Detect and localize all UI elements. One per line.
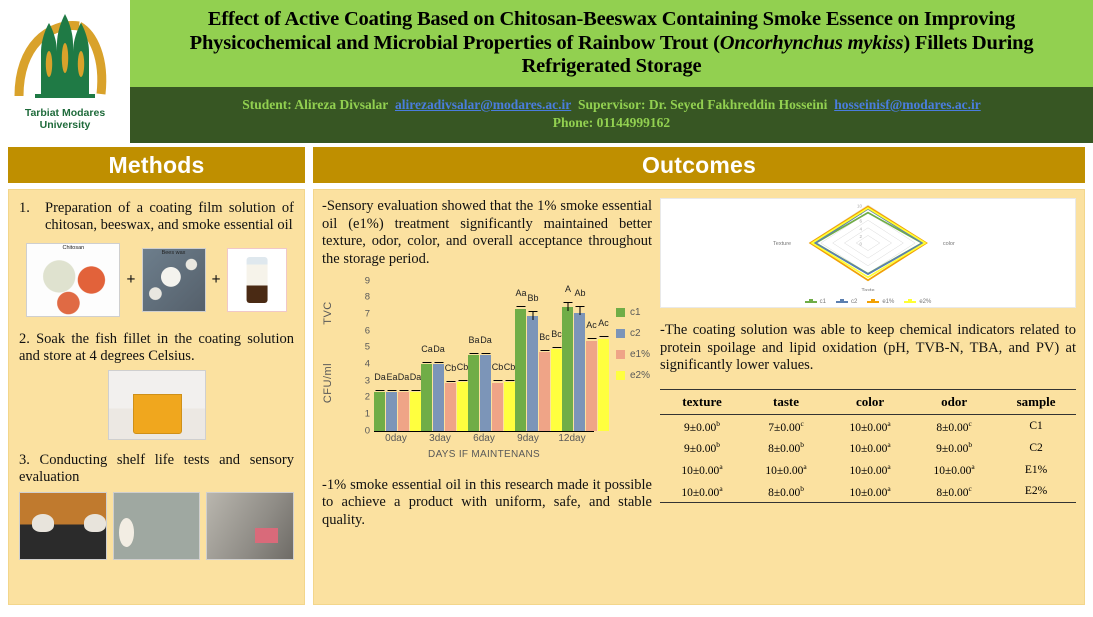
y-tick-6: 6 (365, 325, 370, 336)
radar-gridline (821, 213, 915, 274)
methods-step-1-number: 1. (19, 200, 39, 235)
supervisor-email-link[interactable]: hosseinisf@modares.ac.ir (834, 97, 981, 112)
radar-tick-2: 2 (859, 234, 862, 239)
radar-gridline (809, 205, 927, 281)
chart-y-axis-ticks: 0123456789 (356, 281, 370, 431)
superscript: a (887, 484, 890, 493)
bar-12day-c1: A (562, 307, 573, 431)
superscript: b (800, 484, 804, 493)
radar-legend-swatch (836, 301, 848, 303)
outcomes-panel: -Sensory evaluation showed that the 1% s… (313, 189, 1085, 605)
superscript: b (716, 419, 720, 428)
error-bar (587, 338, 596, 339)
table-cell-color: 10±0.00a (828, 415, 912, 437)
section-title-methods: Methods (109, 152, 205, 179)
error-bar (446, 381, 455, 382)
significance-label: Aa (516, 288, 527, 298)
poster-header: Tarbiat Modares University Effect of Act… (0, 0, 1093, 143)
error-bar (399, 390, 408, 391)
superscript: b (716, 440, 720, 449)
significance-label: Bb (528, 293, 539, 303)
bar-12day-e2%: Ac (598, 339, 609, 431)
x-label-9day: 9day (506, 433, 550, 444)
radar-series-e1% (810, 207, 926, 281)
radar-series-c2 (815, 209, 923, 274)
methods-step-1-text: Preparation of a coating film solution o… (45, 200, 294, 235)
significance-label: Da (480, 335, 492, 345)
significance-label: Ac (586, 320, 597, 330)
chart-legend: c1c2e1%e2% (616, 307, 650, 381)
radar-series-e2% (812, 208, 925, 277)
radar-axis-label-Taste: Taste (861, 288, 874, 291)
y-tick-3: 3 (365, 375, 370, 386)
y-tick-2: 2 (365, 392, 370, 403)
bar-0day-e1%: Da (398, 392, 409, 430)
table-cell-sample: C2 (996, 437, 1076, 459)
error-bar (563, 302, 572, 303)
radar-legend-item-e2%: e2% (904, 299, 931, 305)
legend-swatch (616, 308, 625, 317)
table-header-texture: texture (660, 390, 744, 415)
error-bar (387, 390, 396, 391)
legend-item-c1: c1 (616, 307, 650, 318)
error-bar (458, 380, 467, 381)
outcomes-paragraph-3: -The coating solution was able to keep c… (660, 322, 1076, 375)
table-cell-texture: 10±0.00a (660, 459, 744, 481)
legend-label: e2% (630, 370, 650, 381)
bar-group-9day: AaBbBcBc (515, 281, 562, 431)
university-logo-icon (5, 8, 125, 108)
significance-label: Ba (469, 335, 480, 345)
authors-line: Student: Alireza Divsalar alirezadivsala… (242, 96, 981, 114)
table-row: 10±0.00a8±0.00b10±0.00a8±0.00cE2% (660, 481, 1076, 503)
chart-ylabel-tvc: TVC (322, 301, 334, 325)
error-bar (552, 347, 561, 348)
bar-3day-c1: Ca (421, 364, 432, 431)
x-label-3day: 3day (418, 433, 462, 444)
significance-label: Cb (504, 362, 516, 372)
outcomes-paragraph-2: -1% smoke essential oil in this research… (322, 477, 652, 530)
radar-legend-item-e1%: e1% (867, 299, 894, 305)
table-cell-texture: 9±0.00b (660, 437, 744, 459)
chart-x-axis-title: DAYS IF MAINTENANS (374, 449, 594, 460)
superscript: a (719, 484, 722, 493)
logo-line-2: University (40, 119, 91, 131)
legend-label: e1% (630, 349, 650, 360)
y-tick-7: 7 (365, 309, 370, 320)
superscript: c (969, 484, 972, 493)
superscript: a (887, 462, 890, 471)
bar-9day-c1: Aa (515, 309, 526, 431)
bar-12day-e1%: Ac (586, 341, 597, 431)
significance-label: Ea (387, 372, 398, 382)
significance-label: Cb (445, 363, 457, 373)
beeswax-spoon-photo: Bees wax (142, 248, 206, 312)
beeswax-photo-caption: Bees wax (143, 250, 205, 256)
y-tick-4: 4 (365, 359, 370, 370)
radar-legend-item-c2: c2 (836, 299, 857, 305)
error-bar (540, 350, 549, 351)
bar-6day-e2%: Cb (504, 382, 515, 430)
error-bar (434, 362, 443, 363)
error-bar (493, 380, 502, 381)
table-cell-odor: 8±0.00c (912, 415, 996, 437)
table-row: 10±0.00a10±0.00a10±0.00a10±0.00aE1% (660, 459, 1076, 481)
bar-group-3day: CaDaCbCb (421, 281, 468, 431)
table-cell-texture: 10±0.00a (660, 481, 744, 503)
legend-swatch (616, 350, 625, 359)
legend-item-e2%: e2% (616, 370, 650, 381)
bar-9day-e2%: Bc (551, 349, 562, 430)
radar-tick-4: 4 (859, 226, 862, 231)
table-row: 9±0.00b7±0.00c10±0.00a8±0.00cC1 (660, 415, 1076, 437)
section-header-bars: Methods Outcomes (0, 147, 1093, 183)
significance-label: Da (433, 344, 445, 354)
university-logo-text: Tarbiat Modares University (5, 108, 125, 132)
significance-label: Cb (457, 362, 469, 372)
table-header-row: texturetastecolorodorsample (660, 390, 1076, 415)
chart-x-axis-labels: 0day3day6day9day12day (374, 433, 594, 444)
bar-12day-c2: Ab (574, 313, 585, 431)
methods-step-2-text: 2. Soak the fish fillet in the coating s… (19, 331, 294, 366)
superscript: a (971, 462, 974, 471)
table-cell-taste: 8±0.00b (744, 481, 828, 503)
poster-title-species: Oncorhynchus mykiss (720, 32, 904, 54)
table-cell-sample: E1% (996, 459, 1076, 481)
legend-item-e1%: e1% (616, 349, 650, 360)
significance-label: Bc (551, 329, 562, 339)
chart-plot-area: DaEaDaDaCaDaCbCbBaDaCbCbAaBbBcBcAAbAcAc (374, 281, 594, 431)
radar-tick-6: 6 (859, 219, 862, 224)
methods-panel: 1. Preparation of a coating film solutio… (8, 189, 305, 605)
bar-0day-c1: Da (374, 392, 385, 430)
bar-3day-c2: Da (433, 364, 444, 431)
radar-chart-legend: c1c2e1%e2% (661, 299, 1075, 305)
table-cell-color: 10±0.00a (828, 481, 912, 503)
bar-6day-c1: Ba (468, 355, 479, 431)
university-logo: Tarbiat Modares University (0, 0, 130, 143)
table-cell-sample: C1 (996, 415, 1076, 437)
bar-group-0day: DaEaDaDa (374, 281, 421, 431)
y-tick-8: 8 (365, 292, 370, 303)
legend-label: c2 (630, 328, 641, 339)
student-label: Student: Alireza Divsalar (242, 97, 388, 112)
superscript: a (887, 419, 890, 428)
error-bar (411, 390, 420, 391)
legend-label: c1 (630, 307, 641, 318)
significance-label: Da (398, 372, 410, 382)
supervisor-label: Supervisor: Dr. Seyed Fakhreddin Hossein… (578, 97, 827, 112)
x-label-6day: 6day (462, 433, 506, 444)
radar-legend-swatch (867, 301, 879, 303)
error-bar (528, 311, 537, 312)
significance-label: Ac (598, 318, 609, 328)
logo-line-1: Tarbiat Modares (25, 107, 105, 119)
significance-label: Da (374, 372, 386, 382)
y-tick-0: 0 (365, 425, 370, 436)
table-cell-odor: 10±0.00a (912, 459, 996, 481)
legend-swatch (616, 329, 625, 338)
bar-9day-e1%: Bc (539, 352, 550, 430)
error-bar (599, 336, 608, 337)
superscript: b (968, 440, 972, 449)
sensory-scores-table: texturetastecolorodorsample 9±0.00b7±0.0… (660, 389, 1076, 503)
section-title-outcomes: Outcomes (642, 152, 756, 179)
methods-step-3-images (19, 492, 294, 560)
fillet-coating-beaker-photo (108, 370, 206, 440)
error-bar (422, 362, 431, 363)
radar-legend-label: e1% (882, 299, 894, 305)
radar-tick-0: 0 (859, 242, 862, 247)
radar-legend-item-c1: c1 (805, 299, 826, 305)
bar-0day-c2: Ea (386, 392, 397, 430)
superscript: a (887, 440, 890, 449)
significance-label: Ca (421, 344, 433, 354)
error-bar (375, 390, 384, 391)
methods-step-2-images (19, 370, 294, 440)
shelf-life-test-photo (19, 492, 107, 560)
table-row: 9±0.00b8±0.00b10±0.00a9±0.00bC2 (660, 437, 1076, 459)
bar-group-6day: BaDaCbCb (468, 281, 515, 431)
phone-line: Phone: 01144999162 (553, 114, 670, 132)
radar-legend-label: c2 (851, 299, 857, 305)
superscript: c (969, 419, 972, 428)
radar-chart-svg: 0246810odorcolorTasteTexture (661, 199, 1075, 291)
student-email-link[interactable]: alirezadivsalar@modares.ac.ir (395, 97, 571, 112)
bar-group-12day: AAbAcAc (562, 281, 609, 431)
bar-9day-c2: Bb (527, 316, 538, 431)
table-cell-taste: 10±0.00a (744, 459, 828, 481)
superscript: a (719, 462, 722, 471)
table-cell-color: 10±0.00a (828, 459, 912, 481)
bar-3day-e1%: Cb (445, 383, 456, 431)
error-bar (516, 306, 525, 307)
bar-6day-c2: Da (480, 355, 491, 431)
radar-axis-label-color: color (943, 241, 955, 247)
table-header-taste: taste (744, 390, 828, 415)
section-header-methods: Methods (8, 147, 305, 183)
section-header-outcomes: Outcomes (313, 147, 1085, 183)
bar-6day-e1%: Cb (492, 383, 503, 431)
superscript: c (800, 419, 803, 428)
poster-root: Tarbiat Modares University Effect of Act… (0, 0, 1093, 617)
title-band: Effect of Active Coating Based on Chitos… (130, 0, 1093, 87)
table-header-sample: sample (996, 390, 1076, 415)
radar-axis-label-Texture: Texture (773, 241, 791, 247)
smoke-essential-oil-bottle-photo (227, 248, 287, 312)
legend-item-c2: c2 (616, 328, 650, 339)
sensory-scores-table-wrap: texturetastecolorodorsample 9±0.00b7±0.0… (660, 389, 1076, 503)
table-cell-color: 10±0.00a (828, 437, 912, 459)
methods-ingredient-images: Chitosan + Bees wax + (19, 243, 294, 317)
laboratory-analysis-photo (206, 492, 294, 560)
superscript: a (803, 462, 806, 471)
superscript: b (800, 440, 804, 449)
table-cell-sample: E2% (996, 481, 1076, 503)
chart-ylabel-cfu: CFU/ml (322, 363, 334, 403)
legend-swatch (616, 371, 625, 380)
sensory-evaluation-plates-photo (113, 492, 201, 560)
y-tick-5: 5 (365, 342, 370, 353)
plus-sign-1: + (126, 271, 135, 289)
significance-label: Bc (539, 332, 550, 342)
radar-gridline (844, 228, 891, 258)
radar-legend-label: c1 (820, 299, 826, 305)
poster-title: Effect of Active Coating Based on Chitos… (136, 8, 1087, 80)
table-cell-odor: 9±0.00b (912, 437, 996, 459)
x-label-0day: 0day (374, 433, 418, 444)
significance-label: Cb (492, 362, 504, 372)
error-bar (505, 380, 514, 381)
significance-label: A (565, 284, 571, 294)
bar-0day-e2%: Da (410, 392, 421, 430)
chitosan-photo-caption: Chitosan (27, 245, 119, 251)
radar-tick-10: 10 (857, 204, 863, 209)
error-bar (575, 306, 584, 307)
sensory-radar-chart: 0246810odorcolorTasteTexture c1c2e1%e2% (660, 198, 1076, 308)
radar-series-c1 (816, 213, 923, 274)
bar-3day-e2%: Cb (457, 382, 468, 430)
methods-step-3-text: 3. Conducting shelf life tests and senso… (19, 452, 294, 487)
table-header-odor: odor (912, 390, 996, 415)
plus-sign-2: + (212, 271, 221, 289)
radar-legend-swatch (904, 301, 916, 303)
radar-legend-label: e2% (919, 299, 931, 305)
methods-step-1: 1. Preparation of a coating film solutio… (19, 200, 294, 235)
error-bar (469, 353, 478, 354)
x-label-12day: 12day (550, 433, 594, 444)
significance-label: Ab (575, 288, 586, 298)
table-cell-taste: 8±0.00b (744, 437, 828, 459)
error-bar (481, 353, 490, 354)
table-cell-odor: 8±0.00c (912, 481, 996, 503)
y-tick-1: 1 (365, 409, 370, 420)
significance-label: Da (410, 372, 422, 382)
chitosan-powder-photo: Chitosan (26, 243, 120, 317)
outcomes-paragraph-1: -Sensory evaluation showed that the 1% s… (322, 198, 652, 269)
table-body: 9±0.00b7±0.00c10±0.00a8±0.00cC19±0.00b8±… (660, 415, 1076, 503)
table-header-color: color (828, 390, 912, 415)
radar-legend-swatch (805, 301, 817, 303)
table-cell-texture: 9±0.00b (660, 415, 744, 437)
contact-band: Student: Alireza Divsalar alirezadivsala… (130, 87, 1093, 143)
y-tick-9: 9 (365, 275, 370, 286)
table-cell-taste: 7±0.00c (744, 415, 828, 437)
tvc-bar-chart: TVC CFU/ml 0123456789 DaEaDaDaCaDaCbCbBa… (322, 281, 652, 461)
